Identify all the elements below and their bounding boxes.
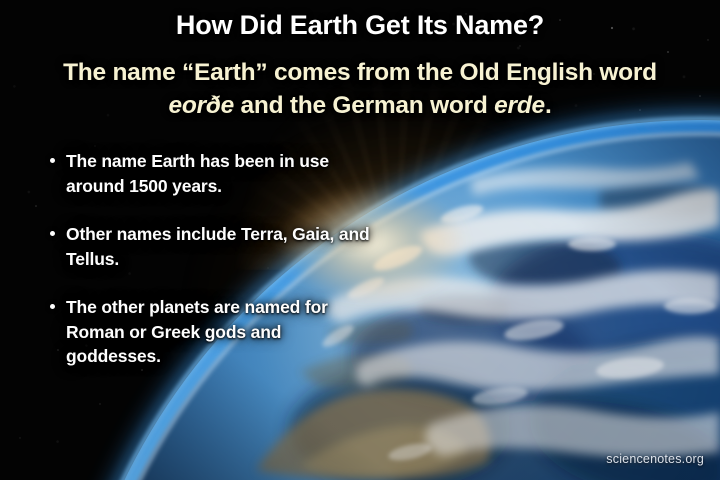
list-item: Other names include Terra, Gaia, and Tel… [46, 222, 376, 271]
infographic-card: sciencenotes.org How Did Earth Get Its N… [0, 0, 720, 480]
page-title: How Did Earth Get Its Name? [0, 10, 720, 41]
subtitle-period: . [545, 92, 552, 119]
list-item: The name Earth has been in use around 15… [46, 149, 376, 198]
subtitle-line-1: The name “Earth” comes from the Old Engl… [63, 59, 657, 86]
list-item-text: Other names include Terra, Gaia, and Tel… [66, 224, 370, 269]
subtitle: The name “Earth” comes from the Old Engl… [26, 56, 694, 122]
subtitle-italic-old-english: eorðe [168, 92, 233, 119]
subtitle-connector: and the German word [234, 92, 494, 119]
list-item-text: The other planets are named for Roman or… [66, 297, 328, 366]
bullet-dot-icon [50, 304, 55, 309]
list-item: The other planets are named for Roman or… [46, 295, 376, 369]
list-item-text: The name Earth has been in use around 15… [66, 151, 329, 196]
watermark: sciencenotes.org [606, 452, 704, 466]
bullet-dot-icon [50, 231, 55, 236]
bullet-dot-icon [50, 158, 55, 163]
subtitle-italic-german: erde [494, 92, 545, 119]
fact-list: The name Earth has been in use around 15… [46, 149, 376, 369]
